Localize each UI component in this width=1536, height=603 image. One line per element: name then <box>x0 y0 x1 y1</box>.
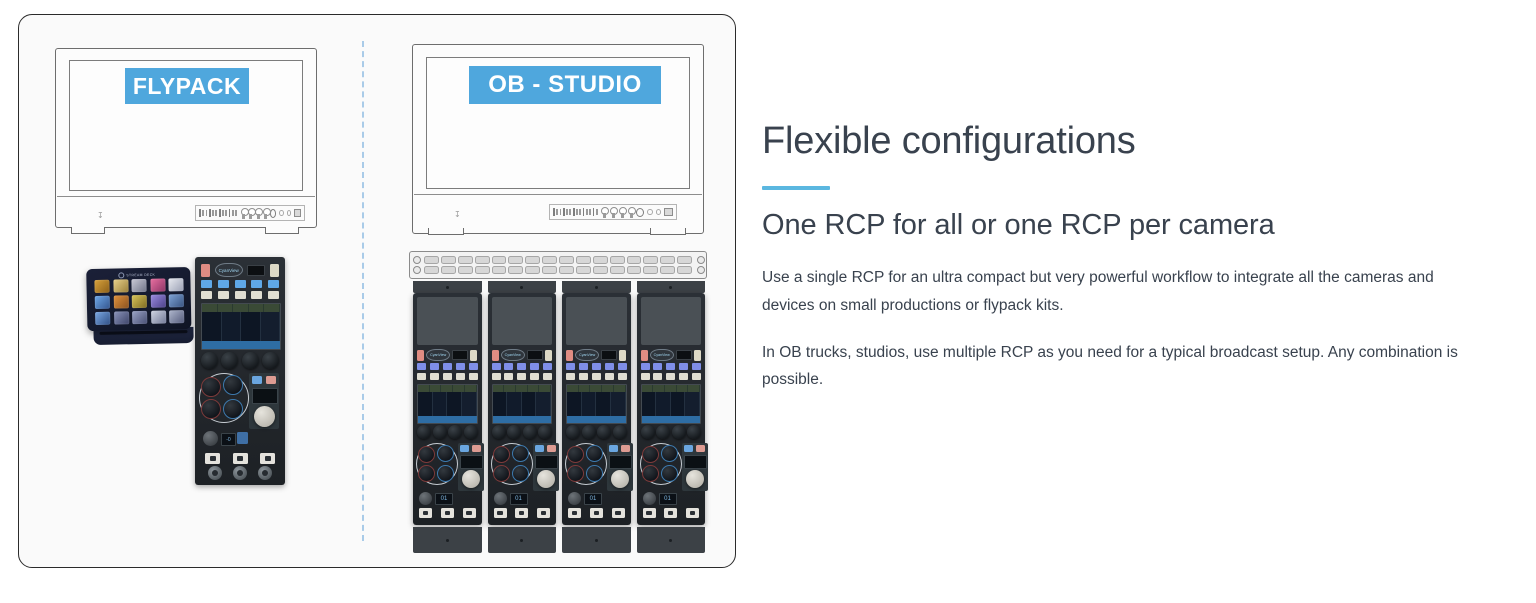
rcp-knob[interactable] <box>492 425 506 439</box>
rcp-knob[interactable] <box>566 425 580 439</box>
rack-key[interactable] <box>643 266 658 274</box>
rack-key[interactable] <box>424 266 439 274</box>
rack-key[interactable] <box>424 256 439 264</box>
rcp-knob[interactable] <box>417 425 431 439</box>
rcp-cream-button[interactable] <box>530 373 539 380</box>
rcp-lcd-screen[interactable] <box>641 384 702 424</box>
page-subtitle: One RCP for all or one RCP per camera <box>762 208 1502 243</box>
rcp-knob[interactable] <box>507 425 521 439</box>
rcp-blue-button[interactable] <box>456 363 465 370</box>
rcp-cream-button-row[interactable] <box>201 291 279 299</box>
rcp-knob[interactable] <box>464 425 478 439</box>
rcp-side-red-button[interactable] <box>547 445 556 452</box>
rcp-lcd-cell <box>241 312 261 341</box>
rcp-iris-knob[interactable] <box>462 470 480 488</box>
rcp-lcd-screen[interactable] <box>492 384 553 424</box>
rcp-bottom-plinth <box>637 527 706 553</box>
rack-key[interactable] <box>610 266 625 274</box>
rcp-gear-row[interactable] <box>203 465 277 481</box>
rcp-lcd-tab[interactable] <box>528 385 540 392</box>
rcp-small-grey-knob[interactable] <box>494 492 507 505</box>
rcp-blue-button[interactable] <box>443 363 452 370</box>
rcp-knob[interactable] <box>641 425 655 439</box>
stream-deck-key[interactable] <box>132 295 147 308</box>
rcp-unit: CyanView <box>560 281 633 555</box>
rcp-call-button[interactable] <box>201 264 210 277</box>
body-paragraph-1: Use a single RCP for an ultra compact bu… <box>762 264 1472 318</box>
rack-key[interactable] <box>660 266 675 274</box>
rack-key[interactable] <box>441 256 456 264</box>
rack-key[interactable] <box>475 256 490 264</box>
rcp-top-blank-face <box>417 297 478 345</box>
rcp-cream-button[interactable] <box>543 373 552 380</box>
rcp-knob[interactable] <box>687 425 701 439</box>
rack-key[interactable] <box>610 256 625 264</box>
rcp-top-right-button[interactable] <box>619 350 626 361</box>
rcp-iris-knob[interactable] <box>611 470 629 488</box>
rack-key[interactable] <box>593 256 608 264</box>
rcp-lcd-cell <box>522 392 537 416</box>
rcp-pad-red-top[interactable] <box>493 446 510 463</box>
rcp-lcd-tab[interactable] <box>677 385 689 392</box>
rcp-knob-row[interactable] <box>201 352 279 369</box>
stream-deck-key[interactable] <box>168 278 183 291</box>
ob-studio-monitor: ↧ OB - STUDIO <box>412 44 704 234</box>
rcp-pad-blue-top[interactable] <box>586 445 603 462</box>
stream-deck-key[interactable] <box>150 279 165 292</box>
rcp-knob-row[interactable] <box>492 425 553 439</box>
content-column: Flexible configurations One RCP for all … <box>762 120 1502 413</box>
rcp-knob[interactable] <box>448 425 462 439</box>
stream-deck-key[interactable] <box>113 295 128 308</box>
rcp-pad-blue-bottom[interactable] <box>661 465 678 482</box>
rcp-bottom-button[interactable] <box>568 508 581 518</box>
rcp-knob[interactable] <box>201 352 218 369</box>
rcp-side-blue-button[interactable] <box>684 445 693 452</box>
rcp-cream-button[interactable] <box>201 291 212 299</box>
rcp-blue-button[interactable] <box>201 280 212 288</box>
rcp-bottom-button-row[interactable] <box>643 508 700 518</box>
rack-key[interactable] <box>559 256 574 264</box>
rcp-knob-row[interactable] <box>641 425 702 439</box>
rcp-blue-button-row[interactable] <box>566 363 627 370</box>
rack-key[interactable] <box>458 266 473 274</box>
rcp-side-blue-button[interactable] <box>535 445 544 452</box>
rcp-cream-button-row[interactable] <box>641 373 702 380</box>
rcp-pad-red-top[interactable] <box>418 446 435 463</box>
rcp-top-blank-face <box>492 297 553 345</box>
ob-studio-label: OB - STUDIO <box>469 66 661 104</box>
rcp-knob[interactable] <box>597 425 611 439</box>
rack-key[interactable] <box>627 266 642 274</box>
rcp-lcd-tab[interactable] <box>233 304 249 312</box>
rcp-lcd-tab[interactable] <box>614 385 626 392</box>
rcp-cream-button[interactable] <box>235 291 246 299</box>
rcp-knob[interactable] <box>582 425 596 439</box>
rcp-bottom-button[interactable] <box>233 453 248 464</box>
rcp-lcd-body <box>202 312 280 341</box>
rcp-blue-button-row[interactable] <box>417 363 478 370</box>
rcp-pad-red-bottom[interactable] <box>201 399 221 419</box>
rcp-side-red-button[interactable] <box>696 445 705 452</box>
rcp-cream-button[interactable] <box>218 291 229 299</box>
rack-screw-icon <box>697 266 705 274</box>
rcp-bottom-button[interactable] <box>643 508 656 518</box>
rcp-side-blue-button[interactable] <box>252 376 262 384</box>
rack-patch-panel <box>409 251 707 279</box>
rcp-lcd-tab[interactable] <box>579 385 591 392</box>
rcp-blue-button[interactable] <box>566 363 575 370</box>
rcp-lcd-cell <box>567 392 582 416</box>
stream-deck-key[interactable] <box>114 311 129 324</box>
rcp-call-button[interactable] <box>641 350 648 361</box>
rcp-pad-red-bottom[interactable] <box>642 465 659 482</box>
rcp-lcd-body <box>418 392 477 416</box>
rcp-top-plinth <box>413 281 482 293</box>
rcp-side-blue-button[interactable] <box>609 445 618 452</box>
rcp-gear-icon[interactable] <box>258 466 272 480</box>
rcp-lcd-tab[interactable] <box>665 385 677 392</box>
rcp-lcd-tab[interactable] <box>567 385 579 392</box>
rack-key[interactable] <box>643 256 658 264</box>
rcp-cream-button-row[interactable] <box>566 373 627 380</box>
rack-key[interactable] <box>559 266 574 274</box>
rack-key[interactable] <box>677 256 692 264</box>
rcp-lcd-cell <box>656 392 671 416</box>
rcp-blue-button[interactable] <box>469 363 478 370</box>
rcp-knob[interactable] <box>523 425 537 439</box>
monitor-knob-icon <box>619 207 625 218</box>
rcp-blue-button[interactable] <box>605 363 614 370</box>
rcp-lcd-tab[interactable] <box>465 385 477 392</box>
rcp-small-grey-knob[interactable] <box>643 492 656 505</box>
rcp-top-row: CyanView <box>201 263 279 277</box>
rack-key[interactable] <box>525 266 540 274</box>
rcp-lcd-footer-bar <box>202 341 280 349</box>
rcp-side-display <box>460 455 483 469</box>
rcp-pad-red-top[interactable] <box>567 446 584 463</box>
rcp-lcd-cell <box>596 392 611 416</box>
rcp-blue-button[interactable] <box>218 280 229 288</box>
rcp-bottom-button[interactable] <box>205 453 220 464</box>
monitor-led-icon <box>647 209 652 215</box>
rcp-pad-red-top[interactable] <box>642 446 659 463</box>
rcp-bottom-button[interactable] <box>494 508 507 518</box>
rcp-pad-red-bottom[interactable] <box>493 465 510 482</box>
stream-deck-key[interactable] <box>113 279 128 292</box>
rcp-pad-red-top[interactable] <box>201 377 221 397</box>
rack-key[interactable] <box>542 256 557 264</box>
rcp-pad-blue-top[interactable] <box>661 445 678 462</box>
rcp-side-panel <box>458 443 484 491</box>
rcp-lcd-tab[interactable] <box>202 304 218 312</box>
rcp-lcd-cell <box>582 392 597 416</box>
rcp-lcd-tabbar[interactable] <box>642 385 701 392</box>
rcp-body: CyanView <box>413 293 482 525</box>
rack-key[interactable] <box>660 256 675 264</box>
rcp-lcd-tab[interactable] <box>441 385 453 392</box>
stream-deck-key[interactable] <box>150 295 165 308</box>
rcp-pad-red-bottom[interactable] <box>567 465 584 482</box>
rcp-cream-button-row[interactable] <box>417 373 478 380</box>
rcp-logo-icon: CyanView <box>575 349 599 361</box>
rcp-cream-button[interactable] <box>592 373 601 380</box>
rcp-cream-button[interactable] <box>492 373 501 380</box>
monitor-led-icon <box>656 209 661 215</box>
stream-deck-key[interactable] <box>151 311 166 324</box>
rcp-pad-blue-bottom[interactable] <box>586 465 603 482</box>
rcp-cream-button[interactable] <box>566 373 575 380</box>
rcp-top-display <box>527 350 543 360</box>
rcp-bottom-button[interactable] <box>260 453 275 464</box>
rcp-cream-button[interactable] <box>251 291 262 299</box>
rcp-side-blue-button[interactable] <box>460 445 469 452</box>
rcp-bank: CyanView <box>411 281 707 555</box>
rcp-gear-icon[interactable] <box>233 466 247 480</box>
rcp-call-button[interactable] <box>417 350 424 361</box>
rcp-blue-button[interactable] <box>492 363 501 370</box>
rcp-cream-button[interactable] <box>666 373 675 380</box>
monitor-knob-icon <box>240 208 244 219</box>
rcp-knob[interactable] <box>242 352 259 369</box>
rcp-cream-button[interactable] <box>692 373 701 380</box>
rcp-blue-button-row[interactable] <box>201 280 279 288</box>
rcp-blue-button-row[interactable] <box>641 363 702 370</box>
rcp-lcd-tab[interactable] <box>590 385 602 392</box>
rack-key[interactable] <box>508 256 523 264</box>
rcp-logo-icon: CyanView <box>426 349 450 361</box>
rcp-knob[interactable] <box>538 425 552 439</box>
rcp-knob[interactable] <box>221 352 238 369</box>
rcp-top-right-button[interactable] <box>470 350 477 361</box>
rcp-cream-button[interactable] <box>618 373 627 380</box>
rack-ear-left <box>410 252 422 278</box>
rcp-bottom-button[interactable] <box>441 508 454 518</box>
rcp-pad-blue-top[interactable] <box>437 445 454 462</box>
rcp-pad-blue-top[interactable] <box>512 445 529 462</box>
rcp-single: CyanView <box>195 257 285 485</box>
rcp-bottom-button-row[interactable] <box>494 508 551 518</box>
rcp-cream-button[interactable] <box>417 373 426 380</box>
rcp-lcd-tab[interactable] <box>418 385 430 392</box>
rcp-blue-button[interactable] <box>692 363 701 370</box>
rcp-cream-button[interactable] <box>653 373 662 380</box>
rcp-bottom-button[interactable] <box>590 508 603 518</box>
connector-pins <box>199 209 237 217</box>
rcp-top-right-button[interactable] <box>270 264 279 277</box>
rcp-lcd-tab[interactable] <box>218 304 234 312</box>
rack-key-grid[interactable] <box>422 252 694 278</box>
rcp-bottom-button-row[interactable] <box>419 508 476 518</box>
ob-studio-monitor-arrow-icon: ↧ <box>454 211 461 219</box>
rcp-cream-button[interactable] <box>605 373 614 380</box>
rcp-lcd-tab[interactable] <box>453 385 465 392</box>
rack-key[interactable] <box>627 256 642 264</box>
rcp-blue-button-row[interactable] <box>492 363 553 370</box>
rack-key[interactable] <box>508 266 523 274</box>
rcp-body: CyanView <box>562 293 631 525</box>
rcp-call-button[interactable] <box>566 350 573 361</box>
rcp-unit: CyanView <box>486 281 559 555</box>
rcp-lcd-tab[interactable] <box>249 304 265 312</box>
rcp-channel-button[interactable] <box>237 432 248 444</box>
rcp-lcd-tabbar[interactable] <box>493 385 552 392</box>
rcp-knob[interactable] <box>613 425 627 439</box>
rcp-blue-button[interactable] <box>653 363 662 370</box>
flypack-monitor-controls <box>195 205 305 221</box>
rcp-lcd-screen[interactable] <box>417 384 478 424</box>
rcp-blue-button[interactable] <box>251 280 262 288</box>
rcp-bottom-button[interactable] <box>686 508 699 518</box>
rcp-lcd-tab[interactable] <box>688 385 700 392</box>
rcp-pad-red-bottom[interactable] <box>418 465 435 482</box>
rcp-pad-blue-bottom[interactable] <box>223 399 243 419</box>
rcp-bottom-button[interactable] <box>419 508 432 518</box>
rcp-knob[interactable] <box>433 425 447 439</box>
rcp-bottom-button[interactable] <box>664 508 677 518</box>
rack-key[interactable] <box>492 256 507 264</box>
stream-deck-key[interactable] <box>94 280 109 293</box>
rack-key[interactable] <box>525 256 540 264</box>
rcp-small-grey-knob[interactable] <box>568 492 581 505</box>
rcp-cream-button[interactable] <box>679 373 688 380</box>
rcp-cream-button[interactable] <box>504 373 513 380</box>
rcp-cream-button[interactable] <box>517 373 526 380</box>
rack-key[interactable] <box>458 256 473 264</box>
rcp-bottom-button-row[interactable] <box>205 453 275 464</box>
rcp-cream-button[interactable] <box>430 373 439 380</box>
rcp-cream-button[interactable] <box>469 373 478 380</box>
rcp-blue-button[interactable] <box>268 280 279 288</box>
rcp-knob[interactable] <box>262 352 279 369</box>
rcp-bottom-button[interactable] <box>515 508 528 518</box>
rcp-lcd-cell <box>611 392 626 416</box>
rcp-cream-button[interactable] <box>443 373 452 380</box>
rcp-knob[interactable] <box>672 425 686 439</box>
rcp-top-right-button[interactable] <box>545 350 552 361</box>
rcp-side-display <box>684 455 707 469</box>
rcp-top-right-button[interactable] <box>694 350 701 361</box>
rack-key[interactable] <box>576 266 591 274</box>
monitor-knob-icon <box>247 208 251 219</box>
rcp-single-face: CyanView <box>195 257 285 485</box>
rcp-bottom-button-row[interactable] <box>568 508 625 518</box>
rcp-lcd-tab[interactable] <box>642 385 654 392</box>
rack-key[interactable] <box>492 266 507 274</box>
rcp-blue-button[interactable] <box>579 363 588 370</box>
rcp-blue-button[interactable] <box>235 280 246 288</box>
rcp-cream-button-row[interactable] <box>492 373 553 380</box>
rcp-blue-button[interactable] <box>666 363 675 370</box>
rack-key[interactable] <box>475 266 490 274</box>
rack-key[interactable] <box>677 266 692 274</box>
rcp-side-panel <box>249 373 279 429</box>
rcp-lcd-tab[interactable] <box>430 385 442 392</box>
rcp-pad-blue-bottom[interactable] <box>437 465 454 482</box>
rcp-top-plinth <box>488 281 557 293</box>
rcp-blue-button[interactable] <box>592 363 601 370</box>
rcp-iris-knob[interactable] <box>686 470 704 488</box>
rcp-lcd-tabbar[interactable] <box>202 304 280 312</box>
rcp-lcd-tab[interactable] <box>493 385 505 392</box>
rcp-cream-button[interactable] <box>641 373 650 380</box>
rcp-iris-knob[interactable] <box>254 406 275 427</box>
rcp-lcd-screen[interactable] <box>201 303 281 350</box>
rcp-lcd-tab[interactable] <box>264 304 280 312</box>
stream-deck-key[interactable] <box>95 312 110 325</box>
rcp-side-red-button[interactable] <box>266 376 276 384</box>
rcp-cream-button[interactable] <box>456 373 465 380</box>
rcp-pad-blue-top[interactable] <box>223 375 243 395</box>
rcp-blue-button[interactable] <box>543 363 552 370</box>
rcp-cream-button[interactable] <box>579 373 588 380</box>
rcp-lcd-tabbar[interactable] <box>567 385 626 392</box>
rcp-blue-button[interactable] <box>504 363 513 370</box>
rcp-side-red-button[interactable] <box>472 445 481 452</box>
rack-ear-right <box>694 252 706 278</box>
rcp-knob[interactable] <box>656 425 670 439</box>
rcp-bottom-button[interactable] <box>612 508 625 518</box>
rcp-blue-button[interactable] <box>618 363 627 370</box>
rcp-iris-knob[interactable] <box>537 470 555 488</box>
rcp-bottom-button[interactable] <box>537 508 550 518</box>
rcp-side-display <box>252 388 278 404</box>
rack-key[interactable] <box>593 266 608 274</box>
rcp-blue-button[interactable] <box>641 363 650 370</box>
rcp-cream-button[interactable] <box>268 291 279 299</box>
rcp-blue-button[interactable] <box>417 363 426 370</box>
rcp-lcd-cell <box>447 392 462 416</box>
stream-deck-key[interactable] <box>169 294 184 307</box>
rcp-side-red-button[interactable] <box>621 445 630 452</box>
rcp-unit: CyanView <box>635 281 708 555</box>
monitor-knob-icon <box>628 207 634 218</box>
rcp-lcd-cell <box>493 392 508 416</box>
stream-deck-key[interactable] <box>95 296 110 309</box>
rcp-knob-row[interactable] <box>417 425 478 439</box>
rcp-lcd-tabbar[interactable] <box>418 385 477 392</box>
stream-deck-key[interactable] <box>169 310 184 323</box>
rcp-gear-icon[interactable] <box>208 466 222 480</box>
rack-key[interactable] <box>441 266 456 274</box>
rcp-lcd-tab[interactable] <box>653 385 665 392</box>
rack-key[interactable] <box>576 256 591 264</box>
rcp-bottom-button[interactable] <box>463 508 476 518</box>
stream-deck-key[interactable] <box>131 279 146 292</box>
rcp-small-grey-knob[interactable] <box>203 431 218 446</box>
rack-key[interactable] <box>542 266 557 274</box>
rcp-blue-button[interactable] <box>430 363 439 370</box>
rcp-lcd-footer-bar <box>493 416 552 423</box>
stream-deck-key[interactable] <box>132 311 147 324</box>
rcp-lcd-cell <box>433 392 448 416</box>
rcp-lcd-tab[interactable] <box>539 385 551 392</box>
rcp-small-grey-knob[interactable] <box>419 492 432 505</box>
rcp-knob-row[interactable] <box>566 425 627 439</box>
rcp-lcd-tab[interactable] <box>602 385 614 392</box>
rcp-lcd-tab[interactable] <box>504 385 516 392</box>
rcp-lcd-tab[interactable] <box>516 385 528 392</box>
rcp-lcd-screen[interactable] <box>566 384 627 424</box>
stream-deck-keygrid[interactable] <box>94 278 184 325</box>
rcp-pad-blue-bottom[interactable] <box>512 465 529 482</box>
connector-pins <box>553 208 598 216</box>
rcp-blue-button[interactable] <box>530 363 539 370</box>
rcp-call-button[interactable] <box>492 350 499 361</box>
rcp-blue-button[interactable] <box>679 363 688 370</box>
rcp-blue-button[interactable] <box>517 363 526 370</box>
rcp-lcd-body <box>567 392 626 416</box>
